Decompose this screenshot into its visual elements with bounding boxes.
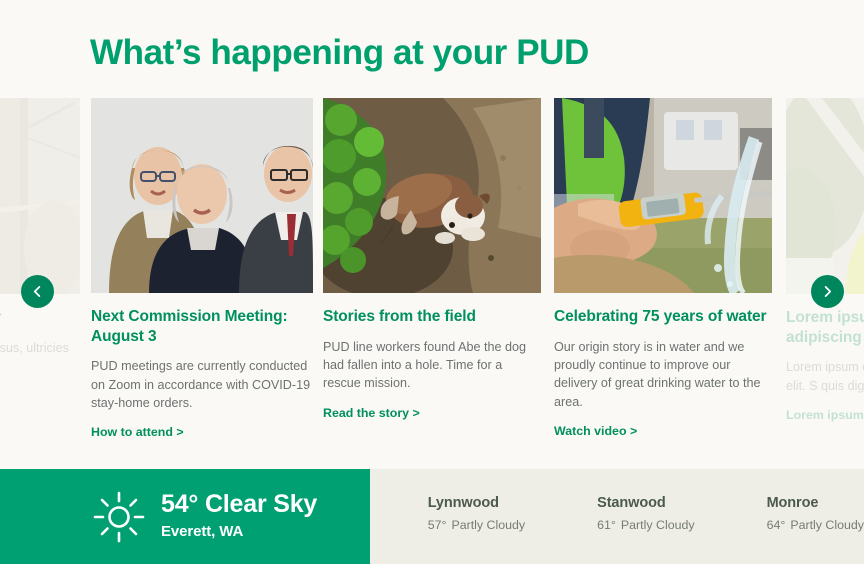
card-body: PUD line workers found Abe the dog had f… xyxy=(323,338,541,393)
news-carousel: it amet eur , consectetur sus, ultricies… xyxy=(0,98,864,443)
hand-holding-thermometer-in-water-photo xyxy=(554,98,772,293)
carousel-card-prev-partial[interactable]: it amet eur , consectetur sus, ultricies… xyxy=(0,98,80,375)
weather-city-lynnwood[interactable]: Lynnwood 57°Partly Cloudy xyxy=(428,495,525,564)
utility-pole-photo xyxy=(0,98,80,294)
city-sky: Partly Cloudy xyxy=(790,518,864,532)
carousel-card-75-years-of-water[interactable]: Celebrating 75 years of water Our origin… xyxy=(554,98,772,440)
card-title: Next Commission Meeting: August 3 xyxy=(91,307,313,346)
city-temperature: 57° xyxy=(428,518,447,532)
city-condition: 61°Partly Cloudy xyxy=(597,518,694,532)
carousel-card-next-partial[interactable]: Lorem ipsum adipiscing co Lorem ipsum do… xyxy=(786,98,864,424)
city-name: Monroe xyxy=(767,495,864,511)
weather-city-monroe[interactable]: Monroe 64°Partly Cloudy xyxy=(767,495,864,564)
dog-in-hole-rescue-photo xyxy=(323,98,541,293)
weather-other-cities: Lynnwood 57°Partly Cloudy Stanwood 61°Pa… xyxy=(370,469,864,564)
lineworker-in-hi-vis-photo xyxy=(786,98,864,294)
card-title: Lorem ipsum adipiscing co xyxy=(786,308,864,347)
card-title: it amet eur xyxy=(0,308,80,328)
weather-temperature: 54° Clear Sky xyxy=(161,491,317,519)
card-link-watch-video[interactable]: Watch video > xyxy=(554,424,637,438)
city-name: Stanwood xyxy=(597,495,694,511)
card-body: Lorem ipsum do adipiscing elit. S quis d… xyxy=(786,358,864,395)
carousel-card-commission-meeting[interactable]: Next Commission Meeting: August 3 PUD me… xyxy=(91,98,313,441)
city-temperature: 61° xyxy=(597,518,616,532)
card-body: PUD meetings are currently conducted on … xyxy=(91,357,313,412)
card-body: Our origin story is in water and we prou… xyxy=(554,338,772,412)
chevron-right-icon xyxy=(821,285,834,298)
city-condition: 64°Partly Cloudy xyxy=(767,518,864,532)
chevron-left-icon xyxy=(31,285,44,298)
pud-news-page: What’s happening at your PUD it amet eur… xyxy=(0,0,864,564)
sun-icon xyxy=(93,491,145,543)
carousel-prev-button[interactable] xyxy=(21,275,54,308)
weather-primary-panel[interactable]: 54° Clear Sky Everett, WA xyxy=(0,469,370,564)
weather-bar: 54° Clear Sky Everett, WA Lynnwood 57°Pa… xyxy=(0,469,864,564)
city-temperature: 64° xyxy=(767,518,786,532)
card-title: Celebrating 75 years of water xyxy=(554,307,772,327)
carousel-next-button[interactable] xyxy=(811,275,844,308)
card-body: , consectetur sus, ultricies get mi. xyxy=(0,339,80,376)
city-sky: Partly Cloudy xyxy=(451,518,525,532)
card-title: Stories from the field xyxy=(323,307,541,327)
city-name: Lynnwood xyxy=(428,495,525,511)
card-link-how-to-attend[interactable]: How to attend > xyxy=(91,425,184,439)
city-sky: Partly Cloudy xyxy=(621,518,695,532)
weather-location: Everett, WA xyxy=(161,523,317,540)
card-link-read-the-story[interactable]: Read the story > xyxy=(323,406,420,420)
weather-city-stanwood[interactable]: Stanwood 61°Partly Cloudy xyxy=(597,495,694,564)
card-link-lorem[interactable]: Lorem ipsum > xyxy=(786,408,864,422)
page-title: What’s happening at your PUD xyxy=(90,33,589,73)
carousel-card-stories-from-the-field[interactable]: Stories from the field PUD line workers … xyxy=(323,98,541,422)
three-commissioners-portrait-photo xyxy=(91,98,313,293)
city-condition: 57°Partly Cloudy xyxy=(428,518,525,532)
